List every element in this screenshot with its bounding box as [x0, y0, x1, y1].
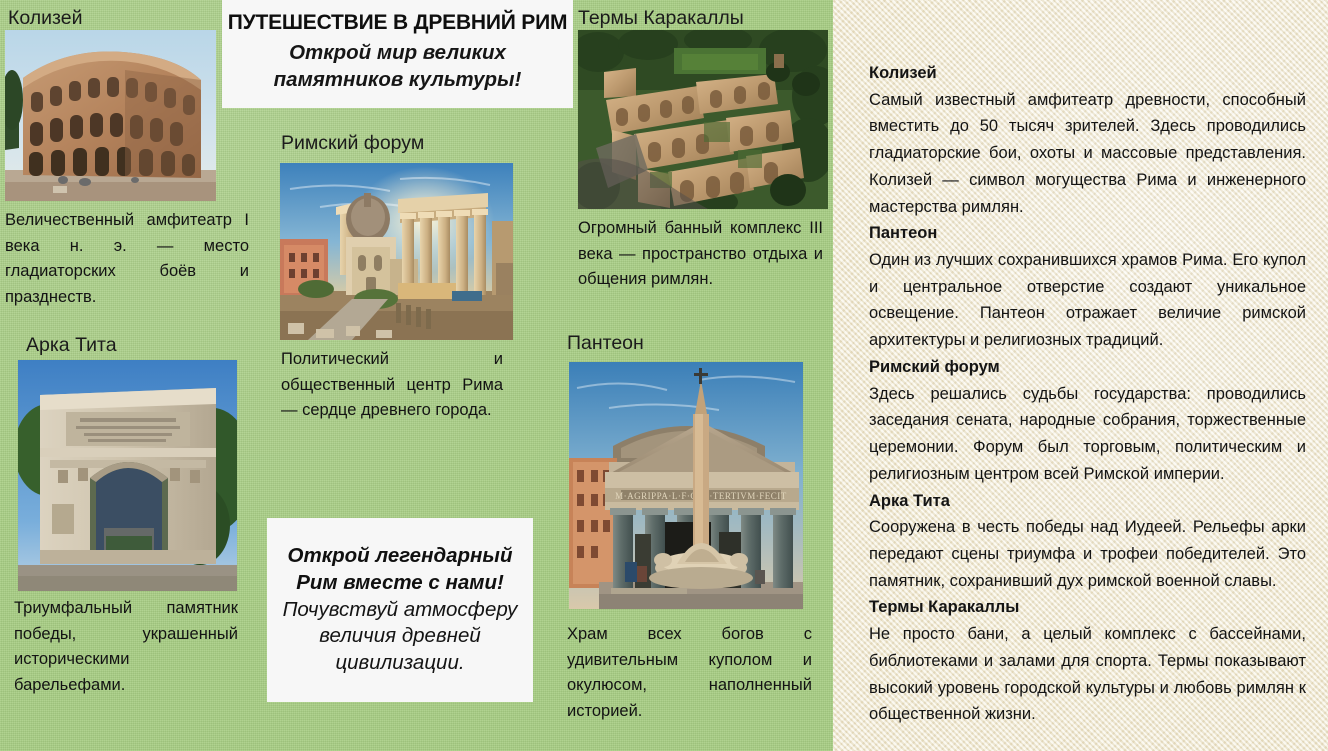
cta-soft-line2: величия древней: [283, 623, 518, 650]
cta-soft-line1: Почувствуй атмосферу: [283, 597, 518, 624]
poster-title-subtitle-line2: памятников культуры!: [274, 66, 522, 93]
monument-title-roman-forum: Римский форум: [281, 133, 424, 153]
information-column: Колизей Самый известный амфитеатр древно…: [869, 60, 1306, 728]
info-heading-pantheon: Пантеон: [869, 220, 1306, 247]
pantheon-photo: M·AGRIPPA·L·F·COS·TERTIVM·FECIT: [569, 362, 803, 609]
roman-forum-photo: [280, 163, 513, 340]
info-body-baths-of-caracalla: Не просто бани, а целый комплекс с бассе…: [869, 621, 1306, 728]
info-body-pantheon: Один из лучших сохранившихся храмов Рима…: [869, 247, 1306, 354]
cta-soft-line3: цивилизации.: [283, 650, 518, 677]
info-body-colosseum: Самый известный амфитеатр древности, спо…: [869, 87, 1306, 221]
poster-title-main: ПУТЕШЕСТВИЕ В ДРЕВНИЙ РИМ: [228, 11, 568, 36]
info-body-roman-forum: Здесь решались судьбы государства: прово…: [869, 381, 1306, 488]
cta-strong-line2: Рим вместе с нами!: [288, 570, 513, 597]
monument-title-pantheon: Пантеон: [567, 333, 644, 353]
monument-title-baths-of-caracalla: Термы Каракаллы: [578, 8, 744, 28]
cta-soft-text: Почувствуй атмосферу величия древней цив…: [283, 597, 518, 677]
poster-title-box: ПУТЕШЕСТВИЕ В ДРЕВНИЙ РИМ Открой мир вел…: [222, 0, 573, 108]
call-to-action-box: Открой легендарный Рим вместе с нами! По…: [267, 518, 533, 702]
info-body-arch-of-titus: Сооружена в честь победы над Иудеей. Рел…: [869, 514, 1306, 594]
monument-caption-colosseum: Величественный амфитеатр I века н. э. — …: [5, 208, 249, 310]
poster-title-subtitle-line1: Открой мир великих: [274, 39, 522, 66]
monument-caption-arch-of-titus: Триумфальный памятник победы, украшенный…: [14, 596, 238, 698]
monument-title-arch-of-titus: Арка Тита: [26, 335, 117, 355]
baths-of-caracalla-photo: [578, 30, 828, 209]
info-heading-baths-of-caracalla: Термы Каракаллы: [869, 594, 1306, 621]
poster-canvas: Колизей: [0, 0, 1328, 751]
arch-of-titus-photo: [18, 360, 237, 591]
poster-title-subtitle: Открой мир великих памятников культуры!: [274, 39, 522, 93]
cta-strong-text: Открой легендарный Рим вместе с нами!: [288, 543, 513, 596]
monument-caption-baths-of-caracalla: Огромный банный комплекс III века — прос…: [578, 216, 823, 293]
monument-caption-roman-forum: Политический и общественный центр Рима —…: [281, 347, 503, 424]
info-heading-roman-forum: Римский форум: [869, 354, 1306, 381]
info-heading-colosseum: Колизей: [869, 60, 1306, 87]
monument-title-colosseum: Колизей: [8, 8, 83, 28]
colosseum-photo: [5, 30, 216, 201]
cta-strong-line1: Открой легендарный: [288, 543, 513, 570]
monument-caption-pantheon: Храм всех богов с удивительным куполом и…: [567, 622, 812, 724]
info-heading-arch-of-titus: Арка Тита: [869, 488, 1306, 515]
